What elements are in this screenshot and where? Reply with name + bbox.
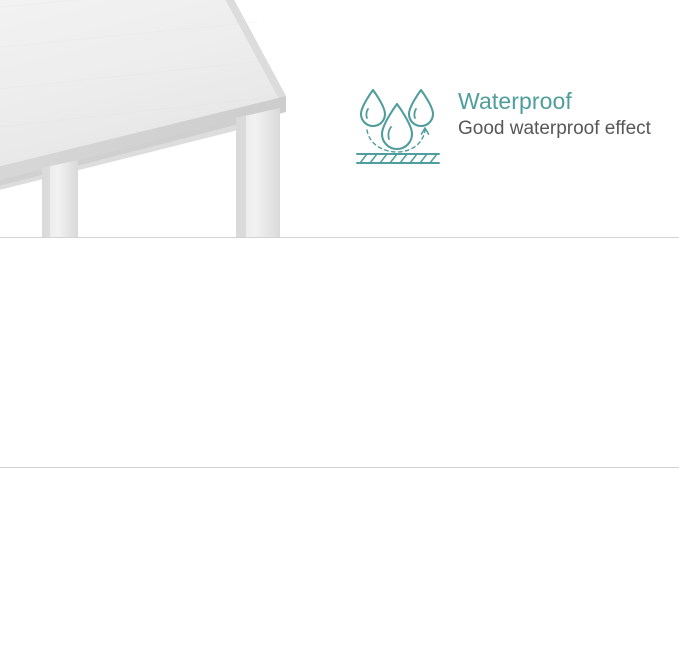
product-feature-infographic: Waterproof Good waterproof effect Enhanc… <box>0 0 679 658</box>
feature-text-waterproof: Waterproof Good waterproof effect <box>458 86 651 142</box>
water-droplets-icon <box>355 82 441 171</box>
feature-section-structural: Enhanced Structural Heavy Duty Metal Des… <box>0 238 679 467</box>
feature-description-waterproof: Good waterproof effect <box>458 116 651 142</box>
feature-section-legpads: Adjustable Leg Pads Suitable for uneven … <box>0 468 679 658</box>
feature-section-waterproof: Waterproof Good waterproof effect <box>0 0 679 237</box>
feature-title-waterproof: Waterproof <box>458 86 651 116</box>
desk-corner-photo <box>0 0 340 237</box>
